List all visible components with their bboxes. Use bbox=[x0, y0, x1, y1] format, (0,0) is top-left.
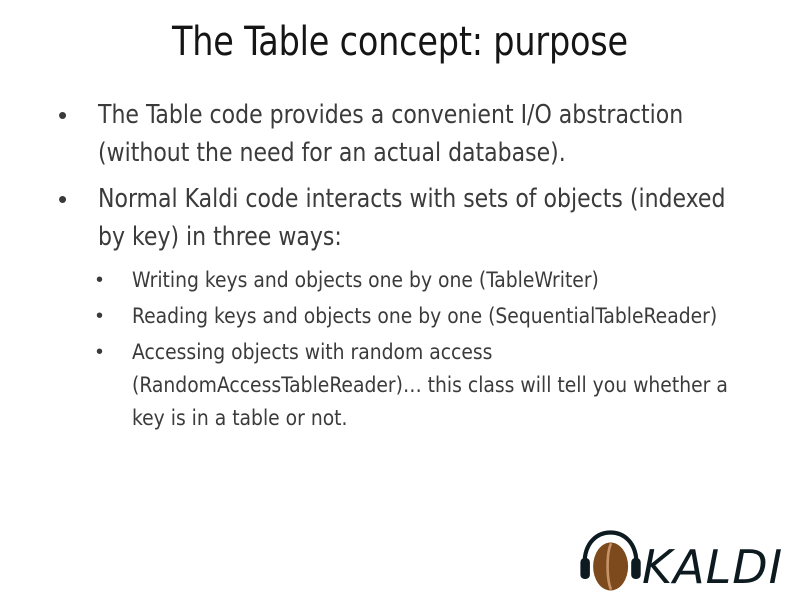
bullet-marker-icon: • bbox=[54, 180, 98, 218]
logo-wordmark: KALDI bbox=[642, 540, 783, 594]
bullet-marker-icon: • bbox=[54, 96, 98, 134]
sub-list-item-text: Accessing objects with random access (Ra… bbox=[132, 336, 738, 435]
list-item: • The Table code provides a convenient I… bbox=[0, 96, 800, 172]
coffee-bean-icon bbox=[593, 543, 628, 591]
sub-list-item: • Accessing objects with random access (… bbox=[0, 336, 800, 435]
sub-list-item: • Writing keys and objects one by one (T… bbox=[0, 264, 800, 297]
bullet-marker-icon: • bbox=[92, 336, 132, 369]
kaldi-logo: KALDI bbox=[578, 528, 790, 596]
bullet-list: • The Table code provides a convenient I… bbox=[0, 96, 800, 438]
bullet-marker-icon: • bbox=[92, 300, 132, 333]
list-item-text: The Table code provides a convenient I/O… bbox=[98, 96, 732, 172]
sub-list-item-text: Writing keys and objects one by one (Tab… bbox=[132, 264, 738, 297]
list-item-text: Normal Kaldi code interacts with sets of… bbox=[98, 180, 732, 256]
page-title: The Table concept: purpose bbox=[28, 18, 772, 66]
list-item: • Normal Kaldi code interacts with sets … bbox=[0, 180, 800, 256]
slide-canvas: The Table concept: purpose • The Table c… bbox=[0, 0, 800, 599]
sub-list-item: • Reading keys and objects one by one (S… bbox=[0, 300, 800, 333]
bullet-marker-icon: • bbox=[92, 264, 132, 297]
sub-list-item-text: Reading keys and objects one by one (Seq… bbox=[132, 300, 738, 333]
